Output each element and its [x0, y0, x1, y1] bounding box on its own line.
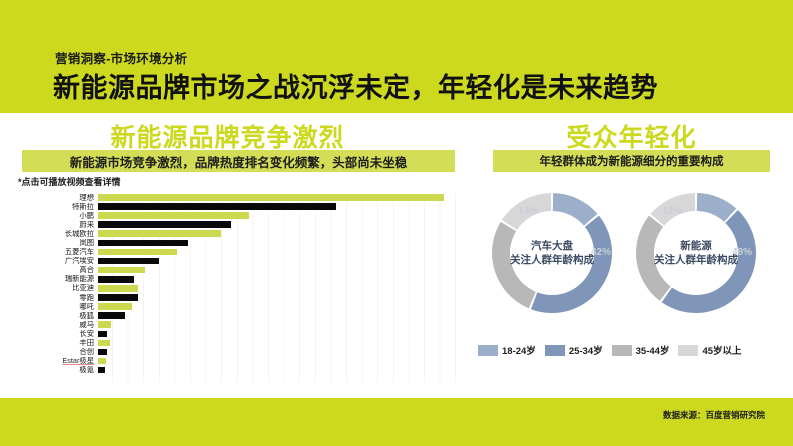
legend-label: 18-24岁: [502, 343, 536, 357]
bar-row-fill: [98, 331, 107, 338]
bar-row-fill: [98, 221, 231, 228]
bar-row-fill: [98, 194, 444, 201]
bar-row[interactable]: 理想: [18, 193, 458, 202]
age-legend: 18-24岁25-34岁35-44岁45岁以上: [478, 341, 788, 359]
bar-row-label: 极狐: [18, 312, 98, 320]
legend-swatch: [545, 345, 565, 356]
bar-row-label: 比亚迪: [18, 284, 98, 292]
bar-row-label: 瑞新能源: [18, 275, 98, 283]
legend-item[interactable]: 35-44岁: [612, 343, 670, 357]
bar-row[interactable]: 哪吒: [18, 302, 458, 311]
bar-row-fill: [98, 340, 110, 347]
bar-row-fill: [98, 240, 188, 247]
bar-row[interactable]: 极狐: [18, 311, 458, 320]
bar-row-label: 丰田: [18, 339, 98, 347]
right-section-heading: 受众年轻化: [480, 118, 783, 154]
donut-segment[interactable]: [492, 222, 536, 309]
bar-row-track: [98, 257, 458, 266]
bar-row[interactable]: 长城欧拉: [18, 229, 458, 238]
bar-row[interactable]: 比亚迪: [18, 284, 458, 293]
slide-body: 新能源品牌竞争激烈 新能源市场竞争激烈，品牌热度排名变化频繁，头部尚未坐稳 *点…: [0, 113, 793, 398]
left-section-subheading-bar: 新能源市场竞争激烈，品牌热度排名变化频繁，头部尚未坐稳: [22, 150, 455, 172]
bar-row-label: 威马: [18, 321, 98, 329]
bar-row-fill: [98, 358, 106, 365]
bar-row-label: 理想: [18, 194, 98, 202]
donut-segment[interactable]: [553, 193, 598, 226]
legend-label: 25-34岁: [569, 343, 603, 357]
bar-row-fill: [98, 267, 145, 274]
bar-row-fill: [98, 249, 177, 256]
donut-segment[interactable]: [636, 216, 671, 301]
donut-segment[interactable]: [662, 210, 756, 313]
bar-row-fill: [98, 349, 107, 356]
bar-row[interactable]: 长安: [18, 329, 458, 338]
bar-row-track: [98, 302, 458, 311]
bar-row[interactable]: 零跑: [18, 293, 458, 302]
legend-swatch: [612, 345, 632, 356]
legend-item[interactable]: 18-24岁: [478, 343, 536, 357]
bar-row-fill: [98, 212, 249, 219]
brand-heat-bar-chart: 理想特斯拉小鹏蔚来长城欧拉岚图五菱汽车广汽埃安高合瑞新能源比亚迪零跑哪吒极狐威马…: [18, 193, 458, 383]
bar-row[interactable]: 瑞新能源: [18, 275, 458, 284]
right-section-subheading-text: 年轻群体成为新能源细分的重要构成: [540, 153, 724, 169]
bar-row-label: 特斯拉: [18, 203, 98, 211]
donut-chart-auto-market: 汽车大盘 关注人群年龄构成 14% 42%: [488, 189, 616, 317]
bar-row-fill: [98, 203, 336, 210]
legend-swatch: [478, 345, 498, 356]
bar-row-label: 高合: [18, 266, 98, 274]
bar-row[interactable]: Estar极星: [18, 357, 458, 366]
left-panel: 新能源品牌竞争激烈 新能源市场竞争激烈，品牌热度排名变化频繁，头部尚未坐稳 *点…: [0, 113, 470, 398]
bar-row-label: 小鹏: [18, 212, 98, 220]
bar-row[interactable]: 高合: [18, 266, 458, 275]
bar-row-fill: [98, 285, 138, 292]
bar-row-fill: [98, 276, 134, 283]
bar-row-label: Estar极星: [18, 357, 98, 365]
bar-row-fill: [98, 230, 221, 237]
legend-item[interactable]: 45岁以上: [678, 343, 741, 357]
bar-row-label: 岚图: [18, 239, 98, 247]
right-section-subheading-bar: 年轻群体成为新能源细分的重要构成: [493, 150, 770, 172]
eyebrow-breadcrumb: 营销洞察-市场环境分析: [55, 48, 187, 67]
bar-row-track: [98, 248, 458, 257]
donut-segment[interactable]: [697, 193, 736, 222]
bar-row-track: [98, 329, 458, 338]
bar-row-label: 长安: [18, 330, 98, 338]
donut-pct-25-34-auto-market: 42%: [591, 247, 611, 258]
bar-row-track: [98, 266, 458, 275]
bar-row[interactable]: 五菱汽车: [18, 248, 458, 257]
right-panel: 受众年轻化 年轻群体成为新能源细分的重要构成 汽车大盘 关注人群年龄构成 14%…: [470, 113, 793, 398]
bar-row[interactable]: 极氪: [18, 366, 458, 375]
bar-row-label: 合创: [18, 348, 98, 356]
bar-row-track: [98, 275, 458, 284]
left-section-subheading-text: 新能源市场竞争激烈，品牌热度排名变化频繁，头部尚未坐稳: [70, 152, 408, 171]
bar-row-track: [98, 220, 458, 229]
bar-row-fill: [98, 294, 138, 301]
donut-pct-18-24-auto-market: 14%: [518, 206, 538, 217]
bar-row-fill: [98, 312, 125, 319]
bar-row-label: 零跑: [18, 294, 98, 302]
bar-row[interactable]: 丰田: [18, 339, 458, 348]
bar-row-track: [98, 311, 458, 320]
bar-row-fill: [98, 367, 105, 374]
click-to-play-note: *点击可播放视频查看详情: [18, 175, 121, 188]
donut-pct-18-24-new-energy: 12%: [662, 206, 682, 217]
bar-row-track: [98, 339, 458, 348]
bar-row-fill: [98, 303, 132, 310]
legend-swatch: [678, 345, 698, 356]
donut-segment[interactable]: [531, 216, 612, 313]
bar-row-label: 五菱汽车: [18, 248, 98, 256]
bar-row[interactable]: 威马: [18, 320, 458, 329]
bar-row-track: [98, 238, 458, 247]
bar-row[interactable]: 特斯拉: [18, 202, 458, 211]
bar-row-label: 哪吒: [18, 303, 98, 311]
bar-row-fill: [98, 258, 159, 265]
legend-label: 45岁以上: [702, 343, 741, 357]
bar-row[interactable]: 广汽埃安: [18, 257, 458, 266]
legend-label: 35-44岁: [636, 343, 670, 357]
bar-chart-rows: 理想特斯拉小鹏蔚来长城欧拉岚图五菱汽车广汽埃安高合瑞新能源比亚迪零跑哪吒极狐威马…: [18, 193, 458, 375]
bar-row-label: 蔚来: [18, 221, 98, 229]
left-section-heading: 新能源品牌竞争激烈: [0, 118, 455, 154]
page-title: 新能源品牌市场之战沉浮未定，年轻化是未来趋势: [53, 66, 658, 105]
data-source-note: 数据来源：百度营销研究院: [663, 409, 765, 421]
bar-row-track: [98, 357, 458, 366]
bar-row-track: [98, 202, 458, 211]
bar-row[interactable]: 合创: [18, 348, 458, 357]
bar-row-track: [98, 229, 458, 238]
bar-row-track: [98, 293, 458, 302]
bar-row[interactable]: 岚图: [18, 238, 458, 247]
bar-row-label: 极氪: [18, 366, 98, 374]
bar-row-label: 长城欧拉: [18, 230, 98, 238]
bar-row-label: 广汽埃安: [18, 257, 98, 265]
bar-row-track: [98, 348, 458, 357]
bar-row[interactable]: 小鹏: [18, 211, 458, 220]
legend-item[interactable]: 25-34岁: [545, 343, 603, 357]
bar-row-fill: [98, 321, 111, 328]
bar-row-track: [98, 320, 458, 329]
donut-chart-new-energy: 新能源 关注人群年龄构成 12% 48%: [632, 189, 760, 317]
bar-row-track: [98, 366, 458, 375]
bar-row-track: [98, 211, 458, 220]
footer-band: 数据来源：百度营销研究院: [0, 398, 793, 446]
bar-row[interactable]: 蔚来: [18, 220, 458, 229]
header-band: 营销洞察-市场环境分析 新能源品牌市场之战沉浮未定，年轻化是未来趋势: [0, 0, 793, 113]
bar-row-track: [98, 193, 458, 202]
donut-pct-25-34-new-energy: 48%: [732, 247, 752, 258]
bar-row-track: [98, 284, 458, 293]
